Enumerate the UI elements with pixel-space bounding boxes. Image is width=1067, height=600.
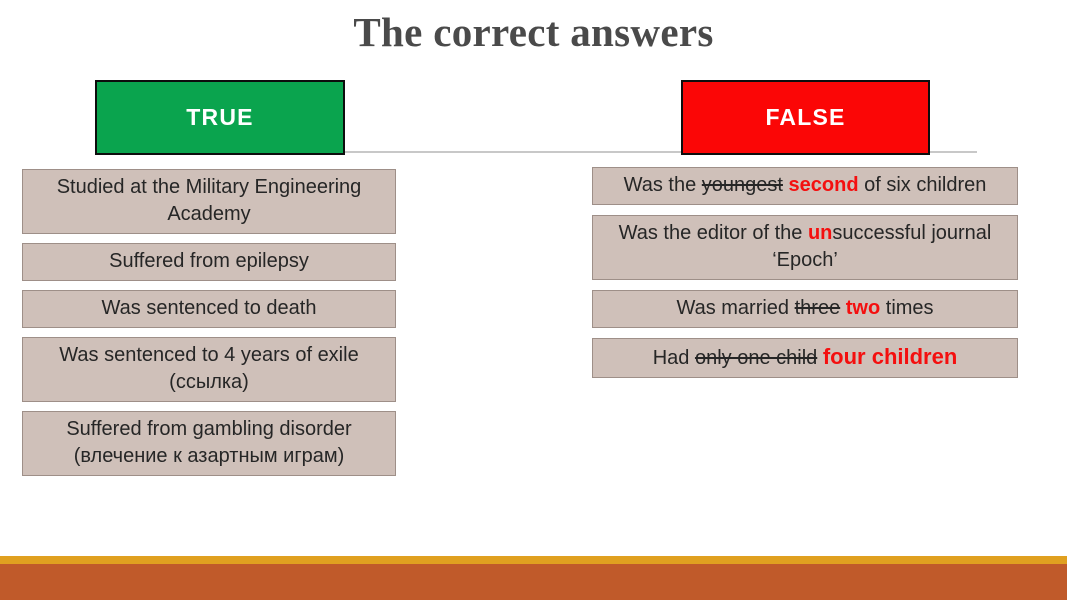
slide-canvas: The correct answers TRUE FALSE Studied a… [0, 0, 1067, 600]
true-answer-text: Suffered from gambling disorder (влечени… [66, 418, 351, 467]
false-answer-before: Was the editor of the [619, 222, 808, 244]
false-answer-before: Was married [676, 297, 794, 319]
true-header-chip[interactable]: TRUE [95, 80, 345, 155]
false-header-chip[interactable]: FALSE [681, 80, 930, 155]
true-answer-item[interactable]: Was sentenced to 4 years of exile (ссылк… [22, 337, 396, 402]
true-answer-text: Was sentenced to 4 years of exile (ссылк… [59, 344, 358, 393]
true-answer-text: Suffered from epilepsy [109, 250, 309, 272]
false-answer-correction: four children [823, 344, 957, 369]
false-answer-correction: two [846, 297, 880, 319]
false-answer-after: times [880, 297, 933, 319]
false-answer-after: of six children [859, 174, 987, 196]
true-answer-text: Was sentenced to death [102, 297, 317, 319]
footer-gold-band [0, 556, 1067, 564]
false-answer-item[interactable]: Had only one child four children [592, 338, 1018, 378]
false-answer-struck: youngest [702, 174, 783, 196]
true-answer-item[interactable]: Suffered from epilepsy [22, 243, 396, 281]
true-header-label: TRUE [186, 104, 253, 131]
false-answer-item[interactable]: Was married three two times [592, 290, 1018, 328]
false-answer-item[interactable]: Was the youngest second of six children [592, 167, 1018, 205]
true-answer-item[interactable]: Studied at the Military Engineering Acad… [22, 169, 396, 234]
true-answer-list: Studied at the Military Engineering Acad… [22, 169, 396, 485]
false-answer-struck: only one child [695, 347, 817, 369]
true-answer-item[interactable]: Suffered from gambling disorder (влечени… [22, 411, 396, 476]
false-answer-struck: three [795, 297, 841, 319]
false-answer-correction: second [789, 174, 859, 196]
true-answer-item[interactable]: Was sentenced to death [22, 290, 396, 328]
footer-terracotta-band [0, 564, 1067, 600]
false-answer-item[interactable]: Was the editor of the unsuccessful journ… [592, 215, 1018, 280]
false-answer-list: Was the youngest second of six children … [592, 167, 1018, 388]
page-title: The correct answers [0, 6, 1067, 58]
false-answer-before: Had [653, 347, 695, 369]
false-header-label: FALSE [765, 104, 845, 131]
true-answer-text: Studied at the Military Engineering Acad… [57, 176, 362, 225]
false-answer-before: Was the [624, 174, 702, 196]
false-answer-correction: un [808, 222, 832, 244]
